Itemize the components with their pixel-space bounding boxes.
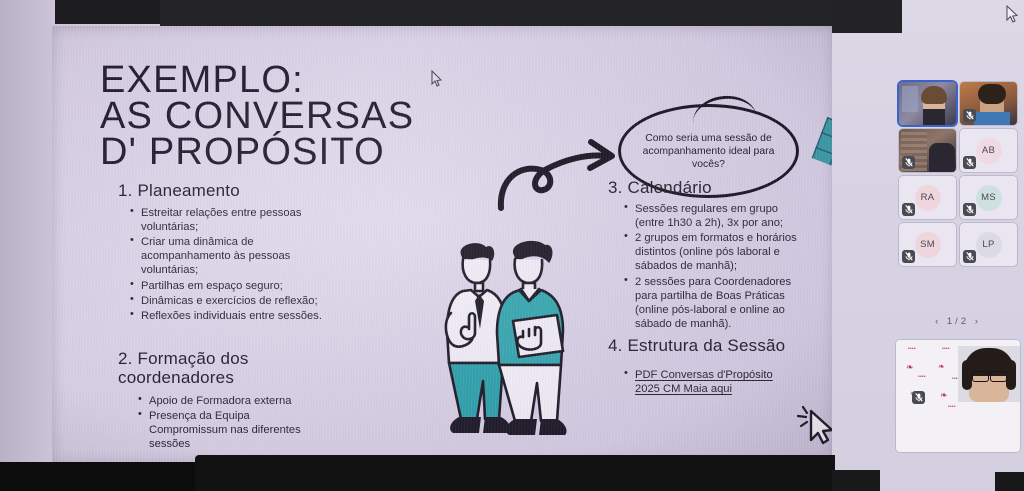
avatar: MS [976, 185, 1002, 211]
participant-row: AB [899, 129, 1017, 172]
avatar: LP [976, 232, 1002, 258]
video-person-torso [923, 109, 945, 125]
bezel-corner-bottom-left [832, 470, 880, 491]
wall-left [0, 0, 52, 470]
list-item: Partilhas em espaço seguro; [141, 279, 333, 293]
section-bullets-3: Sessões regulares em grupo (entre 1h30 a… [622, 202, 802, 332]
section-bullets-2: Apoio de Formadora externa Presença da E… [136, 394, 326, 452]
avatar-initials: RA [921, 192, 935, 203]
list-item[interactable]: PDF Conversas d'Propósito 2025 CM Maia a… [635, 368, 782, 396]
list-item: Sessões regulares em grupo (entre 1h30 a… [635, 202, 802, 230]
pager-prev-icon[interactable]: ‹ [935, 316, 941, 327]
slide-title: EXEMPLO: AS CONVERSAS D' PROPÓSITO [100, 62, 520, 170]
avatar: AB [976, 138, 1002, 164]
avatar-initials: AB [982, 145, 995, 156]
spotlight-hair-left [962, 360, 972, 390]
list-item: 2 grupos em formatos e horários distinto… [635, 231, 802, 273]
mic-muted-icon [912, 391, 925, 404]
participant-tile-ab[interactable]: AB [960, 129, 1017, 172]
glasses-right-icon [990, 371, 1007, 382]
mic-muted-icon [902, 250, 915, 263]
section-heading-4: 4. Estrutura da Sessão [608, 336, 785, 355]
mic-muted-icon [963, 156, 976, 169]
two-people-illustration-icon [437, 239, 583, 452]
avatar-initials: SM [920, 239, 935, 250]
participant-tile-lp[interactable]: LP [960, 223, 1017, 266]
list-item: Apoio de Formadora externa [149, 394, 326, 408]
avatar: SM [915, 232, 941, 258]
participant-row: RA MS [899, 176, 1017, 219]
mic-muted-icon [963, 109, 976, 122]
mic-muted-icon [963, 250, 976, 263]
section-bullets-1: Estreitar relações entre pessoas voluntá… [128, 206, 333, 324]
mic-muted-icon [902, 156, 915, 169]
bezel-bottom [195, 455, 835, 491]
mic-muted-icon [902, 203, 915, 216]
participant-tile-ms[interactable]: MS [960, 176, 1017, 219]
spotlight-hair-right [1006, 360, 1016, 390]
bezel-bottom-left [0, 462, 200, 491]
spotlight-person [958, 346, 1020, 402]
participant-row: SM LP [899, 223, 1017, 266]
participant-grid: AB RA MS [899, 82, 1017, 270]
participant-tile-video-2[interactable] [960, 82, 1017, 125]
list-item: 2 sessões para Coordenadores para partil… [635, 275, 802, 331]
pager-next-icon[interactable]: › [975, 316, 981, 327]
screenshot-root: EXEMPLO: AS CONVERSAS D' PROPÓSITO Como … [0, 0, 1024, 491]
video-backdrop-art [902, 86, 918, 112]
avatar: RA [915, 185, 941, 211]
section-heading-2: 2. Formação dos coordenadores [118, 349, 298, 387]
presentation-slide[interactable]: EXEMPLO: AS CONVERSAS D' PROPÓSITO Como … [52, 26, 834, 464]
pdf-link[interactable]: PDF Conversas d'Propósito 2025 CM Maia a… [635, 369, 773, 395]
list-item: Criar uma dinâmica de acompanhamento às … [141, 235, 333, 277]
participant-tile-sm[interactable]: SM [899, 223, 956, 266]
avatar-initials: MS [981, 192, 996, 203]
mic-muted-icon [963, 203, 976, 216]
spotlight-video-tile[interactable]: •••• •••• •••• ❧ ❧ ❧ •••• •••• ❧ ❧ •••• … [896, 340, 1020, 452]
glasses-left-icon [972, 371, 989, 382]
participant-tile-video-1[interactable] [899, 82, 956, 125]
pager-label: 1/2 [947, 316, 969, 327]
list-item: Reflexões individuais entre sessões. [141, 309, 333, 323]
participant-row [899, 82, 1017, 125]
list-item: Dinâmicas e exercícios de reflexão; [141, 294, 333, 308]
bezel-corner-top-right [832, 0, 902, 33]
video-person-hair [921, 86, 947, 104]
speech-bubble-text: Como seria uma sessão de acompanhamento … [621, 132, 796, 171]
avatar-initials: LP [982, 239, 994, 250]
section-heading-1: 1. Planeamento [118, 181, 240, 200]
participant-tile-ra[interactable]: RA [899, 176, 956, 219]
participant-pager: ‹ 1/2 › [899, 316, 1017, 327]
curly-arrow-icon [495, 134, 625, 217]
video-person [929, 143, 955, 172]
section-heading-3: 3. Calendário [608, 178, 712, 197]
participant-tile-video-3[interactable] [899, 129, 956, 172]
bezel-corner-bottom-right [995, 472, 1024, 491]
video-person-hair [978, 84, 1006, 104]
click-cursor-illustration-icon [797, 404, 837, 451]
video-person-torso [974, 112, 1010, 125]
list-item: Estreitar relações entre pessoas voluntá… [141, 206, 333, 234]
list-item: Presença da Equipa Compromissum nas dife… [149, 409, 326, 451]
section-bullets-4: PDF Conversas d'Propósito 2025 CM Maia a… [622, 368, 782, 397]
